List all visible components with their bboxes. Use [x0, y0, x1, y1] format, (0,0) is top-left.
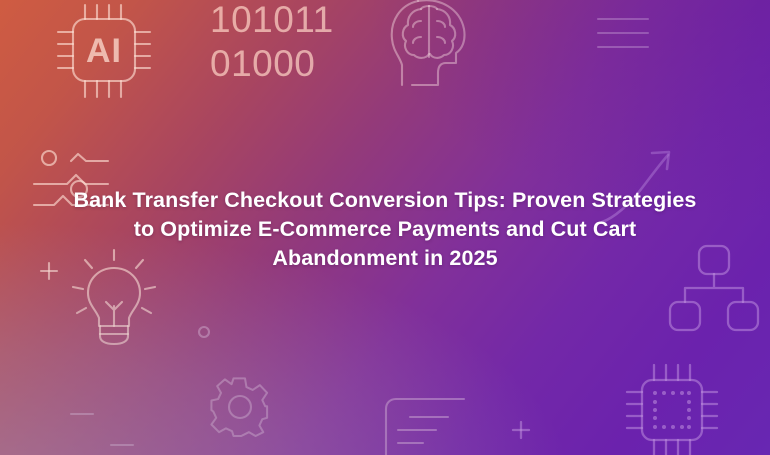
- cpu-chip-icon: [622, 360, 722, 455]
- document-lines-icon: [378, 392, 470, 455]
- ai-chip-label: AI: [86, 32, 122, 70]
- gear-icon: [209, 376, 271, 438]
- dash-icon-upper: [69, 411, 95, 417]
- title-container: Bank Transfer Checkout Conversion Tips: …: [0, 186, 770, 273]
- ai-chip-icon: AI: [52, 2, 156, 102]
- dash-icon-lower: [109, 442, 135, 448]
- binary-code-line-2: 01000: [210, 41, 315, 86]
- page-title: Bank Transfer Checkout Conversion Tips: …: [66, 186, 704, 273]
- hamburger-menu-icon: [596, 16, 652, 52]
- binary-code-line-1: 101011: [210, 0, 334, 42]
- plus-icon-center: [511, 420, 531, 440]
- circle-dot-icon: [196, 324, 212, 340]
- hero-banner: AI 101011 01000: [0, 0, 770, 455]
- brain-head-icon: [388, 0, 488, 91]
